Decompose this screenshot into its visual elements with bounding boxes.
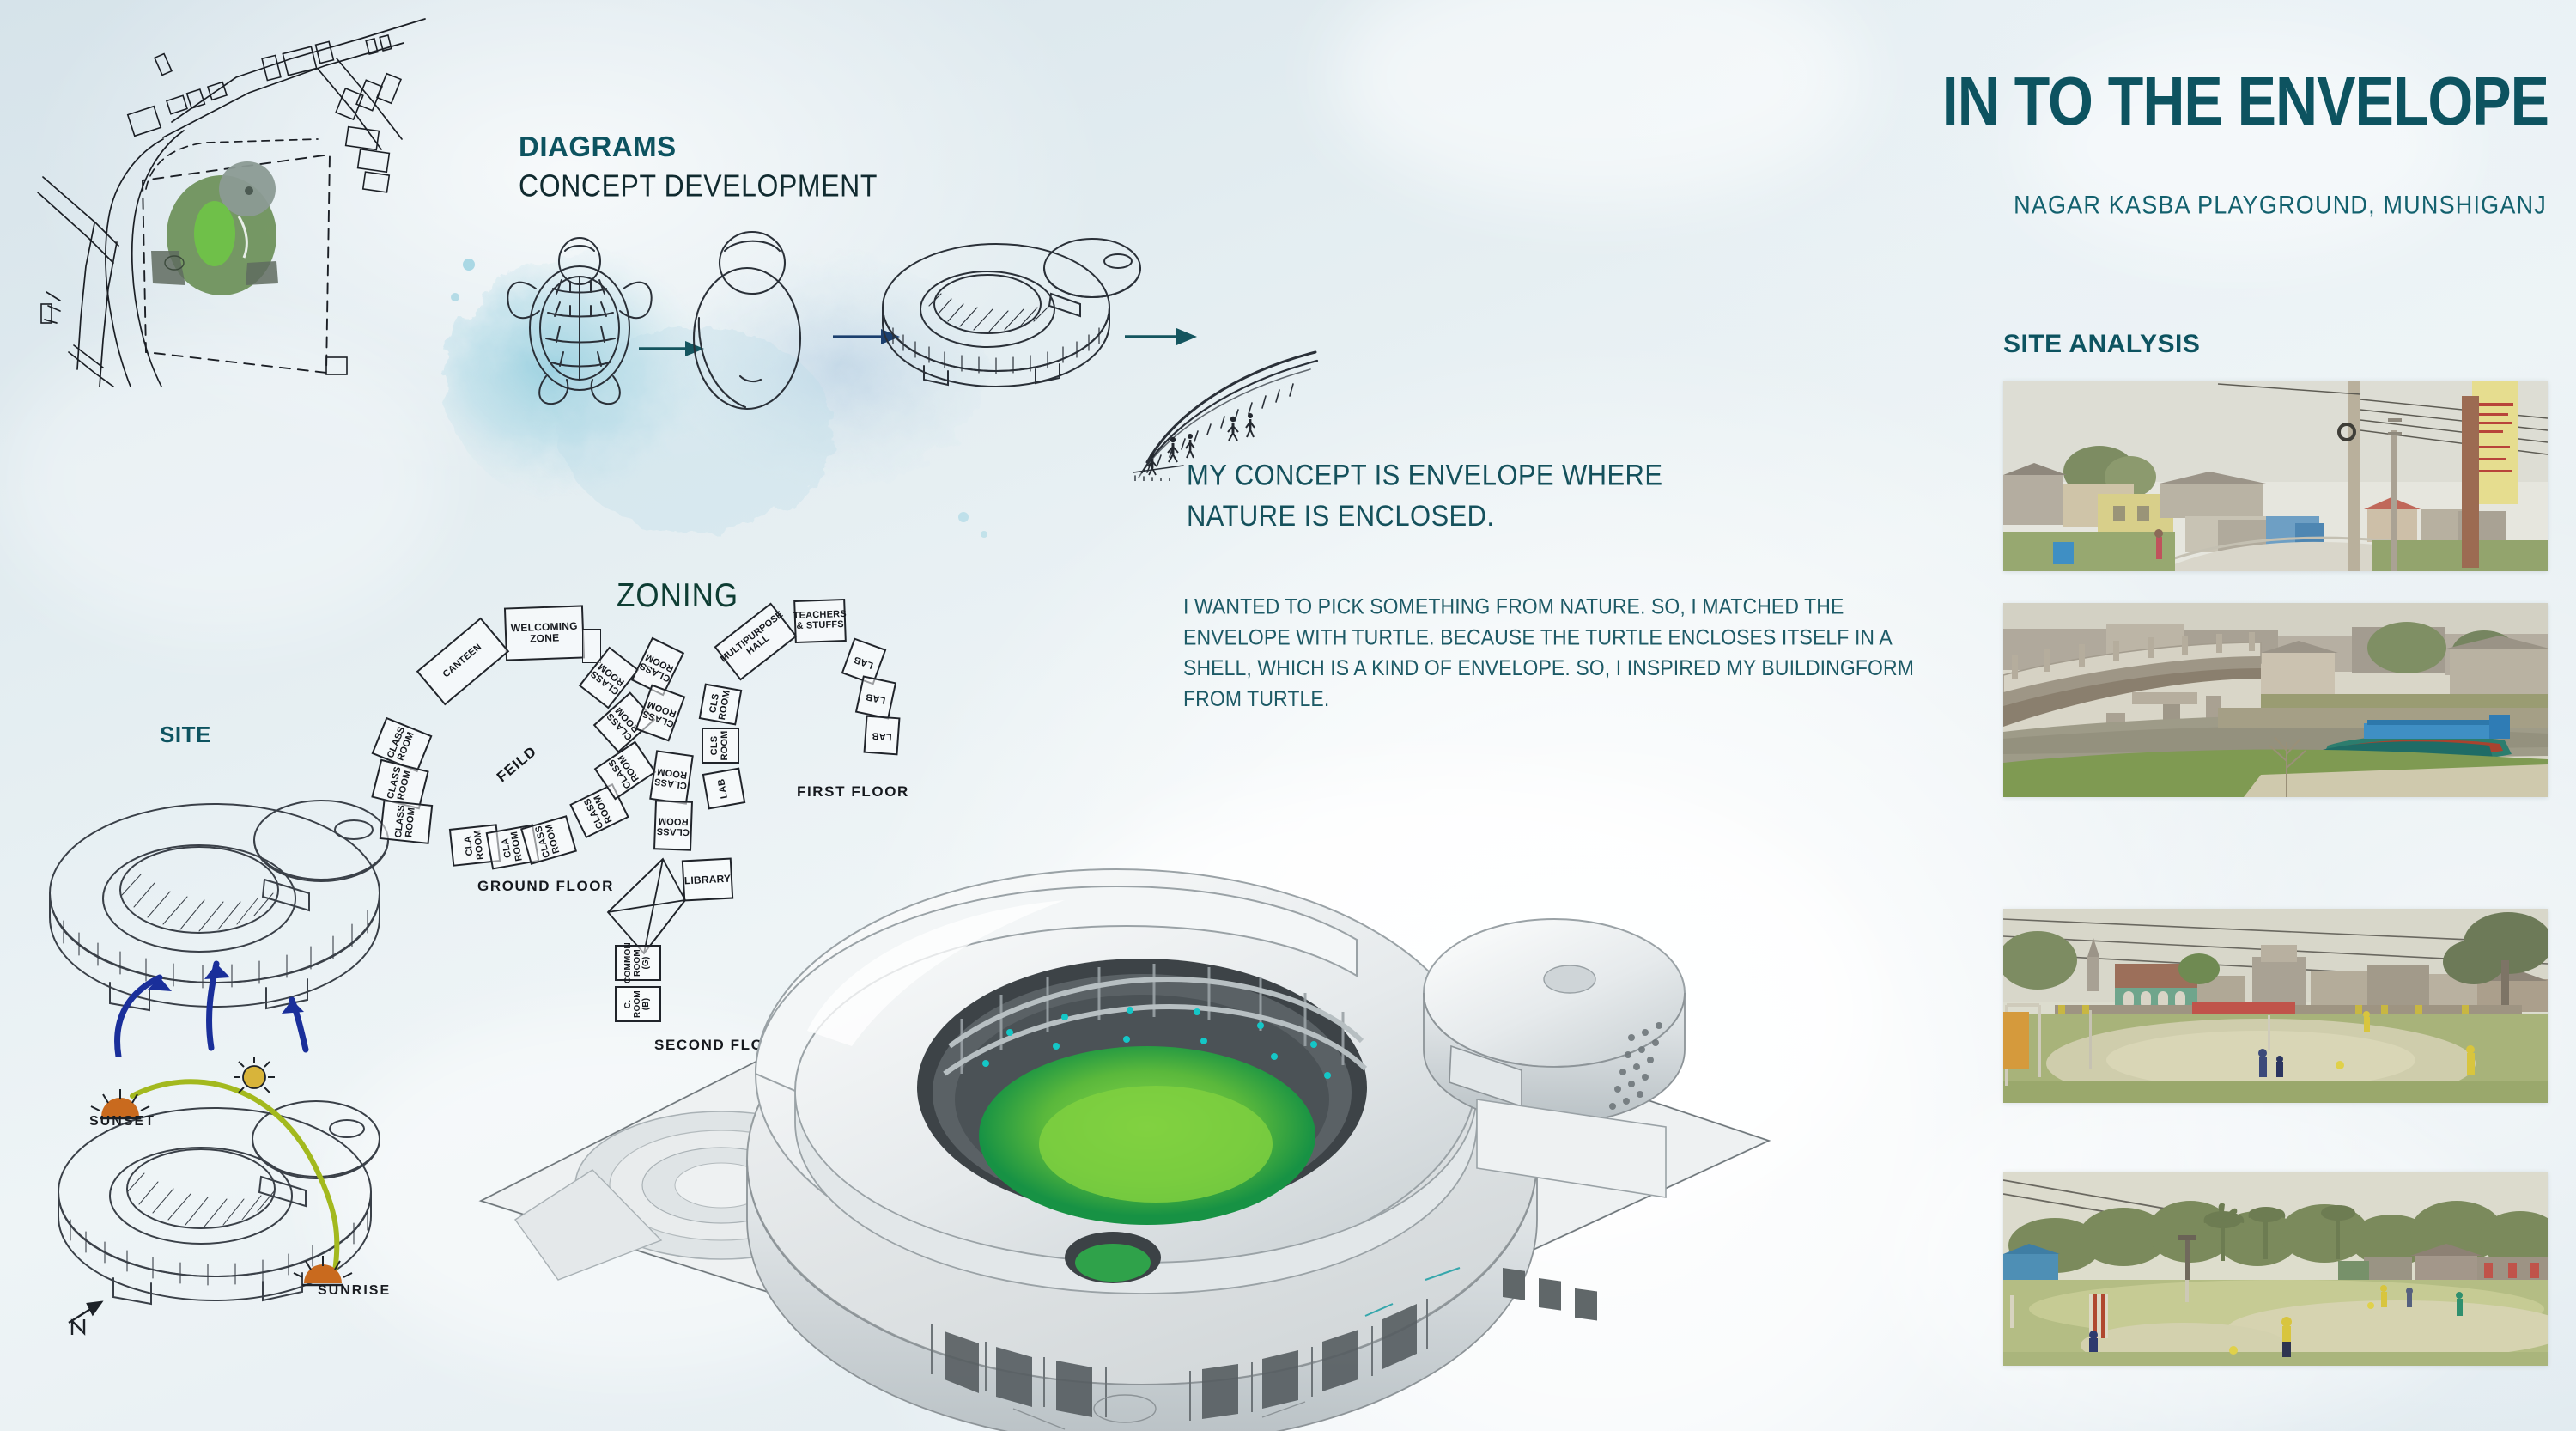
zone-canteen: CANTEEN — [416, 618, 509, 706]
concept-lead-text: MY CONCEPT IS ENVELOPE WHERE NATURE IS E… — [1187, 455, 1668, 536]
photo-bridge-canal — [2003, 603, 2548, 797]
cloud-wash-4 — [326, 1014, 927, 1374]
sun-icon — [234, 1057, 275, 1093]
zoning-title: ZONING — [617, 577, 738, 615]
ground-floor-label: GROUND FLOOR — [477, 878, 614, 895]
site-iso-sketch-sunpath — [43, 1057, 404, 1349]
zone-cls-room-1: CLS ROOM — [699, 683, 743, 725]
sunrise-label: SUNRISE — [318, 1283, 391, 1299]
photo-open-field — [2003, 1172, 2548, 1366]
page-title: IN TO THE ENVELOPE — [1942, 67, 2549, 136]
zone-cls-room-2: CLS ROOM — [702, 728, 739, 764]
page-subtitle: NAGAR KASBA PLAYGROUND, MUNSHIGANJ — [2014, 191, 2547, 220]
sunrise-icon — [294, 1256, 352, 1285]
zone-teachers-stuffs: TEACHERS & STUFFS — [793, 599, 847, 643]
photo-village-road — [2003, 381, 2548, 571]
diagrams-title: DIAGRAMS — [519, 131, 677, 163]
zone-lab-4: LAB — [864, 715, 901, 756]
oval-abstraction-sketch — [678, 225, 824, 414]
zone-class-14: CLASS ROOM — [653, 800, 693, 851]
presentation-board: IN TO THE ENVELOPE NAGAR KASBA PLAYGROUN… — [0, 0, 2576, 1431]
zone-lab-3: LAB — [855, 675, 896, 719]
concept-arrow-2 — [831, 325, 902, 349]
site-plan-map — [34, 9, 429, 387]
zone-field-label: FEILD — [494, 743, 540, 786]
site-analysis-title: SITE ANALYSIS — [2003, 330, 2200, 359]
stadium-aerial-render — [464, 816, 1872, 1431]
site-iso-sketch-airflow — [34, 773, 404, 1057]
second-floor-label: SECOND FLOOR — [654, 1037, 788, 1054]
zone-class-6: CLASS ROOM — [520, 815, 577, 865]
zone-class-13: CLASS ROOM — [649, 750, 694, 805]
zone-library: LIBRARY — [682, 858, 733, 902]
first-floor-label: FIRST FLOOR — [797, 783, 909, 801]
zone-lab-1: LAB — [702, 767, 746, 809]
zone-welcoming: WELCOMING ZONE — [504, 605, 585, 661]
cloud-wash-3 — [1013, 773, 1872, 1254]
site-title: SITE — [160, 722, 211, 748]
zone-class-3: CLASS ROOM — [380, 800, 433, 844]
photo-playground-town — [2003, 909, 2548, 1103]
concept-arrow-3 — [1123, 325, 1199, 349]
sunset-label: SUNSET — [89, 1114, 155, 1130]
north-arrow-icon — [69, 1302, 101, 1335]
zone-stairs — [582, 629, 601, 663]
cloud-wash-1 — [1331, 0, 1863, 206]
concept-arrow-1 — [637, 337, 706, 361]
zone-common-room-g: COMMON ROOM (G) — [615, 945, 661, 981]
turtle-sketch — [498, 232, 661, 412]
diagrams-subtitle: CONCEPT DEVELOPMENT — [519, 168, 878, 204]
cloud-wash-6 — [0, 326, 447, 636]
concept-body-text: I WANTED TO PICK SOMETHING FROM NATURE. … — [1183, 591, 1947, 715]
building-form-sketch — [867, 215, 1151, 412]
zone-c-room-b: C. ROOM (B) — [615, 986, 661, 1022]
zone-class-12: CLASS ROOM — [635, 685, 686, 742]
watercolor-wash — [438, 215, 1056, 575]
